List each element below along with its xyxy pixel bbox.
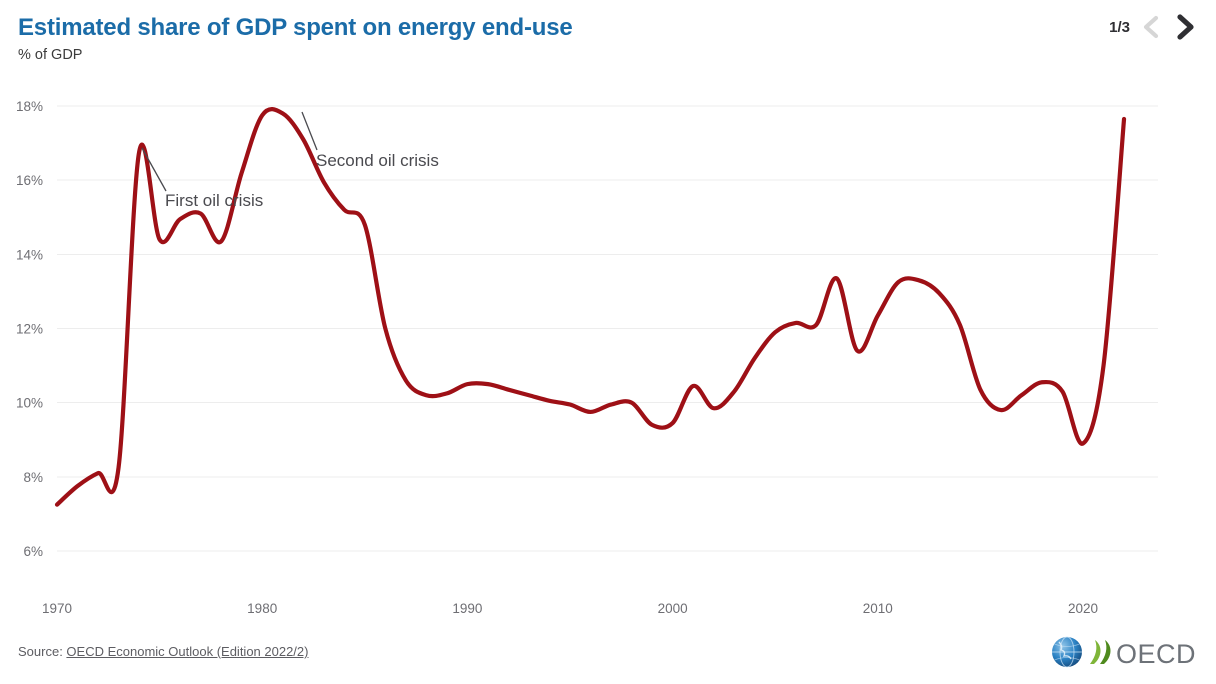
swoosh-icon (1087, 637, 1113, 672)
y-axis-tick-label: 12% (16, 322, 43, 337)
source-note: Source: OECD Economic Outlook (Edition 2… (18, 644, 308, 659)
source-prefix: Source: (18, 644, 66, 659)
x-axis-tick-label: 1980 (247, 601, 277, 616)
chevron-left-icon[interactable] (1140, 13, 1162, 41)
chart-subtitle: % of GDP (18, 47, 82, 63)
globe-icon (1050, 635, 1084, 674)
y-axis-tick-label: 16% (16, 173, 43, 188)
oecd-wordmark: OECD (1116, 641, 1196, 668)
y-axis-tick-label: 14% (16, 247, 43, 262)
x-axis-tick-label: 1990 (452, 601, 482, 616)
y-axis-tick-label: 6% (23, 544, 43, 559)
annotation-label: Second oil crisis (316, 151, 439, 170)
chevron-right-icon[interactable] (1172, 12, 1198, 42)
pager: 1/3 (1109, 10, 1198, 44)
chart-plot-area: 6%8%10%12%14%16%18% 19701980199020002010… (0, 78, 1216, 630)
x-axis-tick-label: 1970 (42, 601, 72, 616)
y-axis-tick-label: 18% (16, 99, 43, 114)
page-indicator: 1/3 (1109, 19, 1130, 36)
source-link[interactable]: OECD Economic Outlook (Edition 2022/2) (66, 644, 308, 659)
chart-header: Estimated share of GDP spent on energy e… (0, 0, 1216, 78)
x-axis-tick-label: 2010 (863, 601, 893, 616)
x-axis-tick-label: 2000 (658, 601, 688, 616)
annotation-leader-line (142, 148, 166, 191)
y-axis-tick-label: 8% (23, 470, 43, 485)
y-axis-tick-labels: 6%8%10%12%14%16%18% (16, 99, 43, 559)
grid-lines (57, 106, 1158, 551)
chart-footer: Source: OECD Economic Outlook (Edition 2… (0, 630, 1216, 684)
chart-annotations: First oil crisisSecond oil crisis (142, 112, 439, 210)
x-axis-tick-labels: 197019801990200020102020 (42, 601, 1098, 616)
oecd-logo: OECD (1050, 635, 1196, 674)
page-title: Estimated share of GDP spent on energy e… (18, 14, 573, 42)
data-series-line (57, 109, 1124, 505)
y-axis-tick-label: 10% (16, 396, 43, 411)
annotation-label: First oil crisis (165, 191, 263, 210)
x-axis-tick-label: 2020 (1068, 601, 1098, 616)
